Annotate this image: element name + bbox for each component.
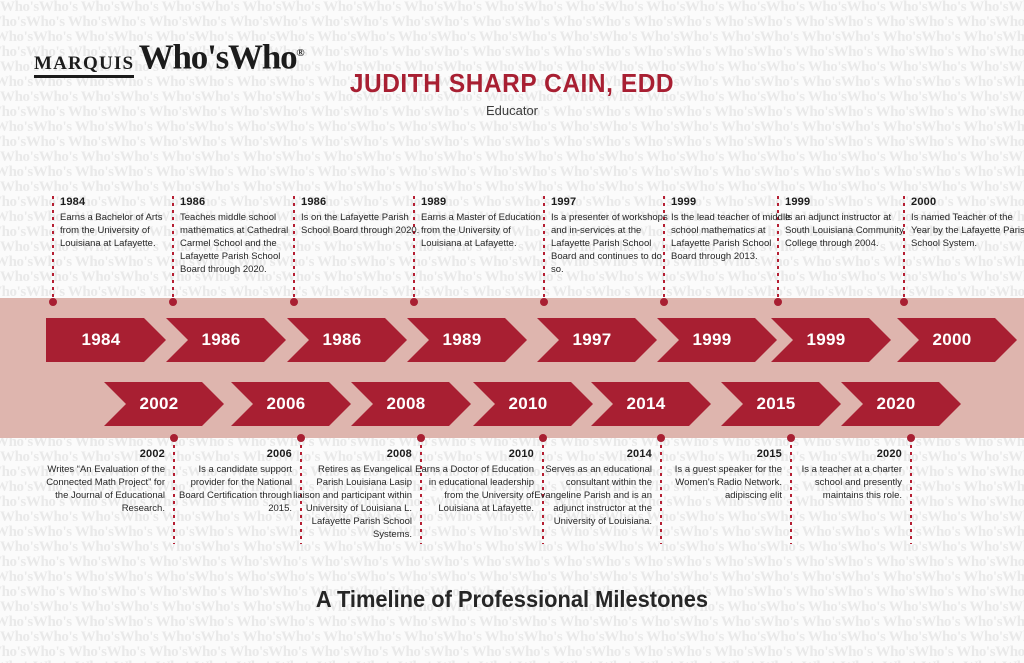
watermark-row: Who'sWho's Who'sWho's Who'sWho's Who'sWh… bbox=[0, 150, 1024, 165]
watermark-row: Who'sWho's Who'sWho's Who'sWho's Who'sWh… bbox=[0, 645, 1024, 660]
milestone-description: Is named Teacher of the Year by the Lafa… bbox=[911, 211, 1024, 250]
connector-dot bbox=[787, 434, 795, 442]
chevron-year-label: 2010 bbox=[508, 394, 547, 414]
milestone-year: 1984 bbox=[60, 196, 180, 208]
connector-dot bbox=[290, 298, 298, 306]
connector-dot bbox=[417, 434, 425, 442]
milestone-description: Is an adjunct instructor at South Louisi… bbox=[785, 211, 905, 250]
watermark-row: Who'sWho's Who'sWho's Who'sWho's Who'sWh… bbox=[0, 570, 1024, 585]
milestone-description: Is a guest speaker for the Women's Radio… bbox=[662, 463, 782, 502]
milestone-year: 2006 bbox=[172, 448, 292, 460]
timeline-infographic: Who'sWho's Who'sWho's Who'sWho's Who'sWh… bbox=[0, 0, 1024, 663]
connector-dot bbox=[657, 434, 665, 442]
watermark-row: Who'sWho's Who'sWho's Who'sWho's Who'sWh… bbox=[0, 180, 1024, 195]
milestone-year: 2008 bbox=[292, 448, 412, 460]
milestone-description: Teaches middle school mathematics at Cat… bbox=[180, 211, 300, 276]
watermark-row: Who'sWho's Who'sWho's Who'sWho's Who'sWh… bbox=[0, 270, 1024, 285]
connector-dot bbox=[907, 434, 915, 442]
milestone-entry: 1984Earns a Bachelor of Arts from the Un… bbox=[60, 196, 180, 250]
chevron-year-label: 1986 bbox=[322, 330, 361, 350]
chevron-year-label: 1989 bbox=[442, 330, 481, 350]
chevron-year-label: 1986 bbox=[201, 330, 240, 350]
chevron-year-label: 1999 bbox=[806, 330, 845, 350]
watermark-row: Who'sWho's Who'sWho's Who'sWho's Who'sWh… bbox=[0, 630, 1024, 645]
watermark-row: Who'sWho's Who'sWho's Who'sWho's Who'sWh… bbox=[0, 120, 1024, 135]
chevron-year-label: 2015 bbox=[756, 394, 795, 414]
bottom-connector-line bbox=[910, 438, 912, 544]
milestone-year: 1999 bbox=[785, 196, 905, 208]
chevron-year-label: 2002 bbox=[139, 394, 178, 414]
connector-dot bbox=[539, 434, 547, 442]
chevron-year-label: 2000 bbox=[932, 330, 971, 350]
milestone-year: 2014 bbox=[532, 448, 652, 460]
milestone-year: 1986 bbox=[301, 196, 421, 208]
milestone-year: 1999 bbox=[671, 196, 791, 208]
milestone-entry: 2014Serves as an educational consultant … bbox=[532, 448, 652, 528]
milestone-year: 2010 bbox=[414, 448, 534, 460]
milestone-entry: 2020Is a teacher at a charter school and… bbox=[782, 448, 902, 502]
watermark-row: Who'sWho's Who'sWho's Who'sWho's Who'sWh… bbox=[0, 525, 1024, 540]
milestone-entry: 1999Is the lead teacher of middle school… bbox=[671, 196, 791, 263]
connector-dot bbox=[410, 298, 418, 306]
watermark-row: Who'sWho's Who'sWho's Who'sWho's Who'sWh… bbox=[0, 555, 1024, 570]
chevron-year-label: 2008 bbox=[386, 394, 425, 414]
milestone-description: Is on the Lafayette Parish School Board … bbox=[301, 211, 421, 237]
milestone-description: Retires as Evangelical Parish Louisiana … bbox=[292, 463, 412, 541]
milestone-description: Is the lead teacher of middle school mat… bbox=[671, 211, 791, 263]
timeline-chevron[interactable]: 1984 bbox=[46, 318, 166, 362]
milestone-description: Earns a Bachelor of Arts from the Univer… bbox=[60, 211, 180, 250]
milestone-description: Is a candidate support provider for the … bbox=[172, 463, 292, 515]
milestone-description: Is a presenter of workshops and in-servi… bbox=[551, 211, 671, 276]
milestone-entry: 1989Earns a Master of Education from the… bbox=[421, 196, 541, 250]
milestone-year: 2002 bbox=[45, 448, 165, 460]
watermark-row: Who'sWho's Who'sWho's Who'sWho's Who'sWh… bbox=[0, 135, 1024, 150]
milestone-year: 2020 bbox=[782, 448, 902, 460]
chevron-year-label: 1984 bbox=[81, 330, 120, 350]
watermark-row: Who'sWho's Who'sWho's Who'sWho's Who'sWh… bbox=[0, 255, 1024, 270]
milestone-description: Writes “An Evaluation of the Connected M… bbox=[45, 463, 165, 515]
watermark-row: Who'sWho's Who'sWho's Who'sWho's Who'sWh… bbox=[0, 615, 1024, 630]
watermark-row: Who'sWho's Who'sWho's Who'sWho's Who'sWh… bbox=[0, 540, 1024, 555]
milestone-entry: 2015Is a guest speaker for the Women's R… bbox=[662, 448, 782, 502]
milestone-entry: 1997Is a presenter of workshops and in-s… bbox=[551, 196, 671, 276]
connector-dot bbox=[49, 298, 57, 306]
connector-dot bbox=[170, 434, 178, 442]
registered-trademark-icon: ® bbox=[296, 47, 304, 59]
milestone-entry: 1986Teaches middle school mathematics at… bbox=[180, 196, 300, 276]
milestone-year: 1986 bbox=[180, 196, 300, 208]
milestone-description: Is a teacher at a charter school and pre… bbox=[782, 463, 902, 502]
chevron-year-label: 2014 bbox=[626, 394, 665, 414]
page-subtitle: Educator bbox=[0, 103, 1024, 118]
page-title: JUDITH SHARP CAIN, EDD bbox=[31, 68, 994, 99]
chevron-year-label: 2006 bbox=[266, 394, 305, 414]
watermark-row: Who'sWho's Who'sWho's Who'sWho's Who'sWh… bbox=[0, 165, 1024, 180]
milestone-entry: 1986Is on the Lafayette Parish School Bo… bbox=[301, 196, 421, 237]
connector-dot bbox=[169, 298, 177, 306]
milestone-description: Earns a Master of Education from the Uni… bbox=[421, 211, 541, 250]
top-connector-line bbox=[543, 196, 545, 302]
connector-dot bbox=[297, 434, 305, 442]
connector-dot bbox=[900, 298, 908, 306]
chevron-year-label: 2020 bbox=[876, 394, 915, 414]
connector-dot bbox=[774, 298, 782, 306]
footer-title: A Timeline of Professional Milestones bbox=[26, 586, 999, 613]
chevron-year-label: 1999 bbox=[692, 330, 731, 350]
chevron-year-label: 1997 bbox=[572, 330, 611, 350]
milestone-description: Serves as an educational consultant with… bbox=[532, 463, 652, 528]
milestone-entry: 2002Writes “An Evaluation of the Connect… bbox=[45, 448, 165, 515]
milestone-description: Earns a Doctor of Education in education… bbox=[414, 463, 534, 515]
milestone-entry: 2010Earns a Doctor of Education in educa… bbox=[414, 448, 534, 515]
milestone-entry: 2006Is a candidate support provider for … bbox=[172, 448, 292, 515]
connector-dot bbox=[540, 298, 548, 306]
title-block: JUDITH SHARP CAIN, EDD Educator bbox=[0, 68, 1024, 118]
milestone-entry: 2000Is named Teacher of the Year by the … bbox=[911, 196, 1024, 250]
top-connector-line bbox=[52, 196, 54, 302]
milestone-year: 2015 bbox=[662, 448, 782, 460]
watermark-row: Who'sWho's Who'sWho's Who'sWho's Who'sWh… bbox=[0, 15, 1024, 30]
milestone-entry: 2008Retires as Evangelical Parish Louisi… bbox=[292, 448, 412, 541]
milestone-entry: 1999Is an adjunct instructor at South Lo… bbox=[785, 196, 905, 250]
watermark-row: Who'sWho's Who'sWho's Who'sWho's Who'sWh… bbox=[0, 0, 1024, 15]
connector-dot bbox=[660, 298, 668, 306]
milestone-year: 1989 bbox=[421, 196, 541, 208]
milestone-year: 2000 bbox=[911, 196, 1024, 208]
milestone-year: 1997 bbox=[551, 196, 671, 208]
